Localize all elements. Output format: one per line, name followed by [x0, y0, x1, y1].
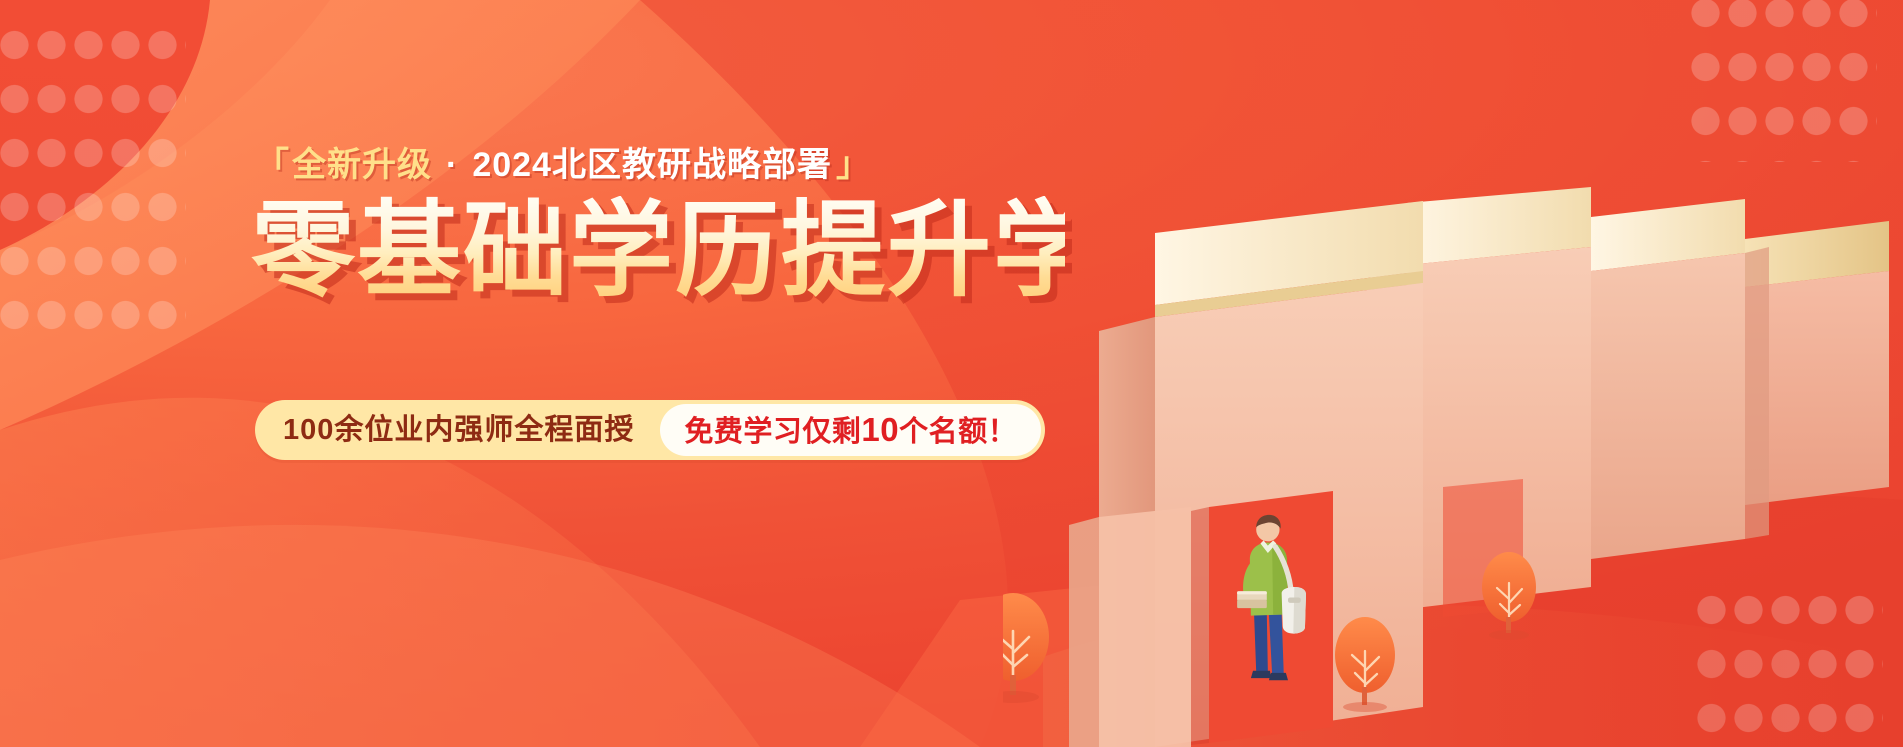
pill-teachers-label: 100余位业内强师全程面授 — [283, 416, 660, 445]
pill-seats-suffix: 个名额！ — [899, 416, 1017, 448]
pill-seats-number: 10 — [861, 411, 899, 448]
eyebrow-line: 「 全新升级 · 2024北区教研战略部署 」 — [255, 148, 1065, 182]
bracket-open-icon: 「 — [255, 148, 290, 182]
pill-seats-prefix: 免费学习仅剩 — [684, 416, 861, 448]
pill-seats-badge[interactable]: 免费学习仅剩10个名额！ — [660, 404, 1041, 456]
banner-copy: 「 全新升级 · 2024北区教研战略部署 」 零基础学历提升学霸班 — [255, 148, 1065, 306]
tree-left — [1003, 593, 1049, 703]
bracket-close-icon: 」 — [836, 148, 871, 182]
promo-banner: 「 全新升级 · 2024北区教研战略部署 」 零基础学历提升学霸班 100余位… — [0, 0, 1903, 747]
eyebrow-white-text: 2024北区教研战略部署 — [472, 148, 832, 182]
headline-title: 零基础学历提升学霸班 — [251, 196, 1065, 306]
pill-seats-text: 免费学习仅剩10个名额！ — [684, 413, 1017, 447]
eyebrow-gold-text: 全新升级 — [292, 148, 432, 182]
eyebrow-separator: · — [432, 148, 472, 182]
offer-pill-group: 100余位业内强师全程面授 免费学习仅剩10个名额！ — [255, 400, 1045, 460]
